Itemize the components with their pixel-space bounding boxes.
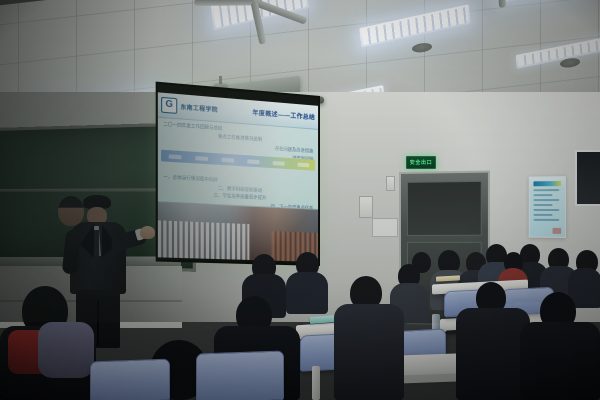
chair-leg [312, 366, 320, 400]
student-torso [520, 322, 600, 400]
wall-notice-poster [529, 176, 566, 238]
exit-sign: 安全出口 [406, 156, 436, 169]
classroom-chair[interactable] [90, 359, 170, 400]
poster-line [533, 194, 552, 196]
student-backpack [38, 322, 94, 378]
left-wall-shadow [0, 92, 330, 322]
poster-line [533, 189, 558, 191]
poster-line [533, 219, 558, 221]
student-torso [334, 304, 404, 400]
poster-line [533, 204, 552, 206]
poster-line [533, 199, 558, 201]
student-torso [456, 308, 530, 400]
wall-access-plate [372, 218, 398, 237]
wall-switch-panel[interactable] [359, 196, 373, 218]
classroom-chair[interactable] [196, 350, 284, 400]
wall-framed-board [575, 150, 600, 206]
poster-seal [552, 228, 561, 234]
wall-switch[interactable] [386, 176, 395, 191]
classroom-photo-scene: G 东南工程学院 年度概述——工作总结 二〇一四年度工作回顾与总结 重点工作推进… [0, 0, 600, 400]
poster-line [533, 214, 552, 216]
poster-line [533, 209, 558, 211]
exit-sign-label: 安全出口 [410, 159, 432, 166]
poster-header-band [533, 181, 561, 186]
student-head [412, 252, 431, 273]
